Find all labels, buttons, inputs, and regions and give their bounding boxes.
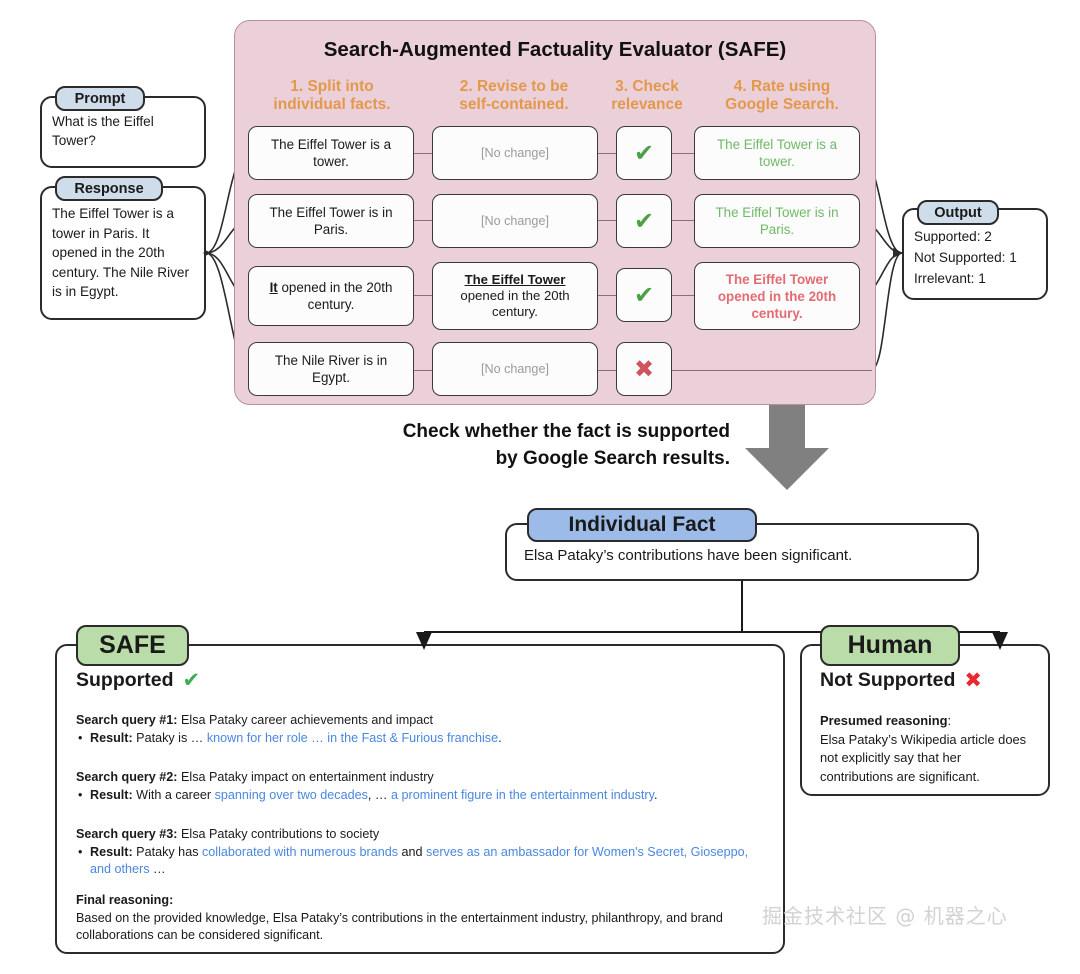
final-reasoning-label: Final reasoning: [76, 892, 766, 910]
relevance-cross-icon: ✖ [616, 342, 672, 396]
output-irrelevant: Irrelevant: 1 [914, 268, 1044, 289]
human-reasoning-label: Presumed reasoning [820, 713, 948, 728]
query-result: Result: Pataky has collaborated with num… [90, 844, 766, 879]
result-label: Result: [90, 788, 133, 802]
row-connector [598, 295, 616, 296]
query-text: Elsa Pataky career achievements and impa… [178, 713, 434, 727]
human-verdict-text: Not Supported [820, 669, 955, 692]
human-result-label: Human [820, 625, 960, 666]
final-reasoning: Final reasoning: Based on the provided k… [76, 892, 766, 945]
result-label: Result: [90, 731, 133, 745]
fact-cell: The Eiffel Tower is a tower. [248, 126, 414, 180]
query-text: Elsa Pataky contributions to society [178, 827, 380, 841]
column-header-revise-line2: self-contained. [430, 96, 598, 114]
column-header-revise-line1: 2. Revise to be [430, 78, 598, 96]
search-query-2: Search query #2: Elsa Pataky impact on e… [76, 769, 766, 804]
prompt-text: What is the Eiffel Tower? [52, 112, 198, 150]
column-header-split: 1. Split into individual facts. [248, 78, 416, 114]
revised-cell: The Eiffel Toweropened in the 20th centu… [432, 262, 598, 330]
column-header-relevance: 3. Check relevance [597, 78, 697, 114]
fact-underline-token: It [270, 280, 278, 295]
query-label: Search query #3: [76, 827, 178, 841]
revised-rest: opened in the 20th century. [460, 288, 569, 319]
revised-cell: [No change] [432, 126, 598, 180]
output-label: Output [917, 200, 999, 225]
human-reasoning-colon: : [948, 713, 952, 728]
rating-cell: The Eiffel Tower is a tower. [694, 126, 860, 180]
query-result: Result: Pataky is … known for her role …… [90, 730, 766, 748]
revised-cell: [No change] [432, 342, 598, 396]
revised-cell: [No change] [432, 194, 598, 248]
row-connector [672, 295, 694, 296]
row-connector [414, 153, 432, 154]
fact-cell: The Eiffel Tower is in Paris. [248, 194, 414, 248]
column-header-rate-line1: 4. Rate using [694, 78, 870, 96]
safe-verdict-text: Supported [76, 669, 174, 692]
response-text: The Eiffel Tower is a tower in Paris. It… [52, 204, 198, 302]
column-header-revise: 2. Revise to be self-contained. [430, 78, 598, 114]
result-p2: , … [368, 788, 391, 802]
search-query-1: Search query #1: Elsa Pataky career achi… [76, 712, 766, 747]
row-connector [672, 220, 694, 221]
result-p1: spanning over two decades [215, 788, 368, 802]
fact-rest: opened in the 20th century. [278, 280, 393, 312]
column-header-rate-line2: Google Search. [694, 96, 870, 114]
row-connector [598, 370, 616, 371]
final-reasoning-text: Based on the provided knowledge, Elsa Pa… [76, 910, 766, 945]
relevance-check-icon: ✔ [616, 194, 672, 248]
safe-verdict: Supported ✔ [76, 668, 200, 693]
row-connector [414, 370, 432, 371]
rating-cell: The Eiffel Tower opened in the 20th cent… [694, 262, 860, 330]
fact-cell: It opened in the 20th century. [248, 266, 414, 326]
result-p2: and [398, 845, 426, 859]
middle-caption-line2: by Google Search results. [230, 445, 730, 472]
result-p1: collaborated with numerous brands [202, 845, 398, 859]
result-p4: . [654, 788, 658, 802]
relevance-check-icon: ✔ [616, 126, 672, 180]
prompt-label: Prompt [55, 86, 145, 111]
result-p3: a prominent figure in the entertainment … [391, 788, 654, 802]
result-p0: Pataky is … [133, 731, 207, 745]
human-reasoning-text: Elsa Pataky’s Wikipedia article does not… [820, 731, 1034, 787]
human-reasoning: Presumed reasoning: Elsa Pataky’s Wikipe… [820, 712, 1034, 786]
column-header-relevance-line2: relevance [597, 96, 697, 114]
column-header-rate: 4. Rate using Google Search. [694, 78, 870, 114]
cross-icon: ✖ [964, 668, 982, 693]
middle-caption-line1: Check whether the fact is supported [230, 418, 730, 445]
output-not-supported: Not Supported: 1 [914, 247, 1044, 268]
middle-caption: Check whether the fact is supported by G… [230, 418, 730, 472]
row-connector [672, 370, 872, 371]
revised-underline-token: The Eiffel Tower [465, 272, 566, 287]
individual-fact-text: Elsa Pataky’s contributions have been si… [524, 547, 974, 564]
result-p0: With a career [133, 788, 215, 802]
result-p3: . [498, 731, 502, 745]
column-header-split-line2: individual facts. [248, 96, 416, 114]
relevance-check-icon: ✔ [616, 268, 672, 322]
row-connector [672, 153, 694, 154]
result-p0: Pataky has [133, 845, 202, 859]
output-summary: Supported: 2 Not Supported: 1 Irrelevant… [914, 226, 1044, 289]
check-icon: ✔ [183, 668, 201, 693]
result-p4: … [150, 862, 166, 876]
individual-fact-label: Individual Fact [527, 508, 757, 542]
query-label: Search query #2: [76, 770, 178, 784]
row-connector [414, 295, 432, 296]
query-text: Elsa Pataky impact on entertainment indu… [178, 770, 434, 784]
column-header-relevance-line1: 3. Check [597, 78, 697, 96]
result-p2: in the Fast & Furious franchise [327, 731, 498, 745]
response-label: Response [55, 176, 163, 201]
safe-result-label: SAFE [76, 625, 189, 666]
query-label: Search query #1: [76, 713, 178, 727]
column-header-split-line1: 1. Split into [248, 78, 416, 96]
safe-panel-title: Search-Augmented Factuality Evaluator (S… [234, 38, 876, 62]
fact-cell: The Nile River is in Egypt. [248, 342, 414, 396]
watermark: 掘金技术社区 @ 机器之心 [762, 900, 1008, 929]
result-label: Result: [90, 845, 133, 859]
search-query-3: Search query #3: Elsa Pataky contributio… [76, 826, 766, 879]
query-result: Result: With a career spanning over two … [90, 787, 766, 805]
output-supported: Supported: 2 [914, 226, 1044, 247]
human-verdict: Not Supported ✖ [820, 668, 982, 693]
result-p1: known for her role … [207, 731, 327, 745]
row-connector [598, 220, 616, 221]
row-connector [598, 153, 616, 154]
row-connector [414, 220, 432, 221]
rating-cell: The Eiffel Tower is in Paris. [694, 194, 860, 248]
